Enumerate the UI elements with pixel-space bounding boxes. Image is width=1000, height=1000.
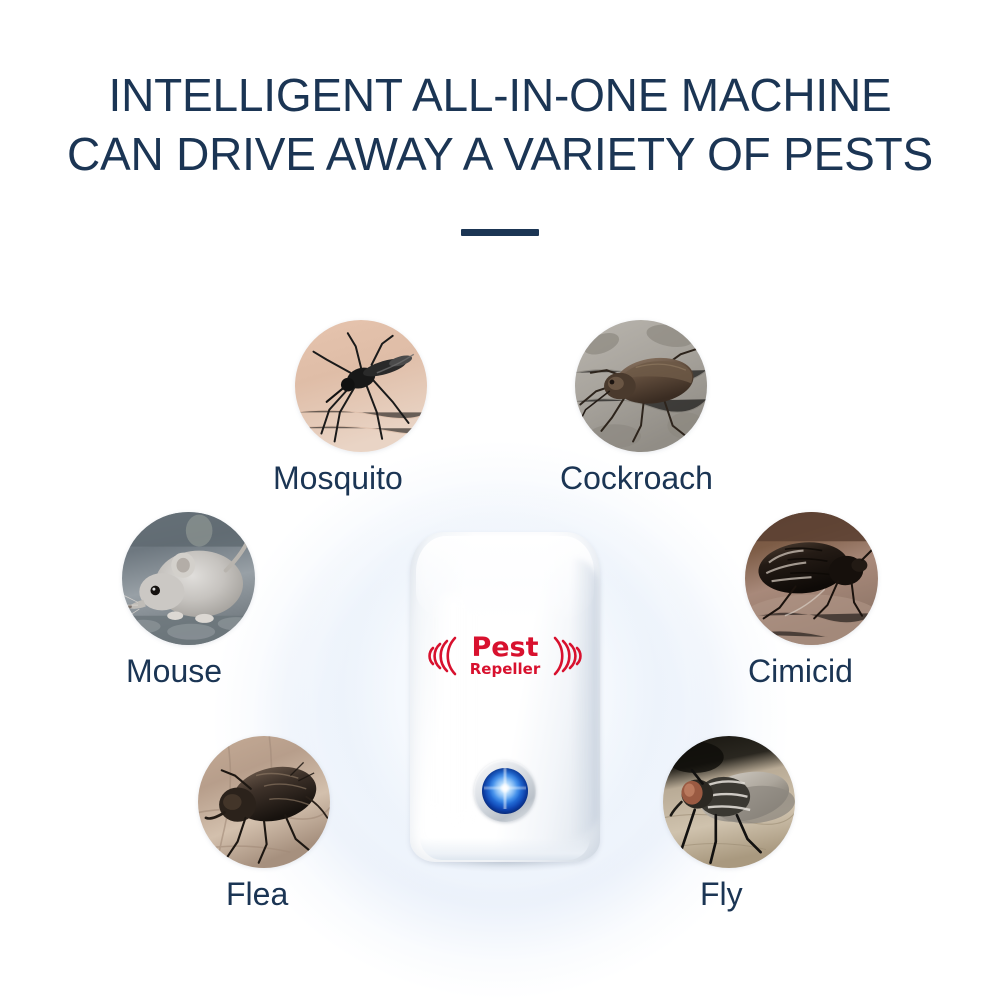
page-title-line-1: INTELLIGENT ALL-IN-ONE MACHINE: [0, 66, 1000, 125]
cockroach-photo: [575, 320, 707, 452]
device-base: [420, 838, 590, 860]
cimicid-photo: [745, 512, 878, 645]
device-body: Pest Repeller: [410, 532, 600, 862]
pest-label-flea: Flea: [226, 878, 288, 910]
pest-repeller-logo: Pest Repeller: [425, 624, 585, 688]
title-divider: [461, 229, 539, 236]
mosquito-photo: [295, 320, 427, 452]
page-title-line-2: CAN DRIVE AWAY A VARIETY OF PESTS: [0, 125, 1000, 184]
fly-photo: [663, 736, 795, 868]
page-title: INTELLIGENT ALL-IN-ONE MACHINE CAN DRIVE…: [0, 66, 1000, 184]
pest-label-fly: Fly: [700, 878, 743, 910]
logo-sub-text: Repeller: [470, 660, 541, 678]
pest-label-mosquito: Mosquito: [273, 462, 403, 494]
pest-label-cockroach: Cockroach: [560, 462, 713, 494]
device-right-edge: [572, 558, 598, 836]
power-indicator-led[interactable]: [474, 760, 536, 822]
logo-main-text: Pest: [471, 632, 538, 663]
pest-label-cimicid: Cimicid: [748, 655, 853, 687]
mouse-photo: [122, 512, 255, 645]
flea-photo: [198, 736, 330, 868]
led-lens: [482, 768, 528, 814]
pest-label-mouse: Mouse: [126, 655, 222, 687]
product-showcase: Pest Repeller: [0, 280, 1000, 1000]
led-glow: [484, 768, 526, 809]
pest-repeller-device: Pest Repeller: [410, 532, 600, 862]
